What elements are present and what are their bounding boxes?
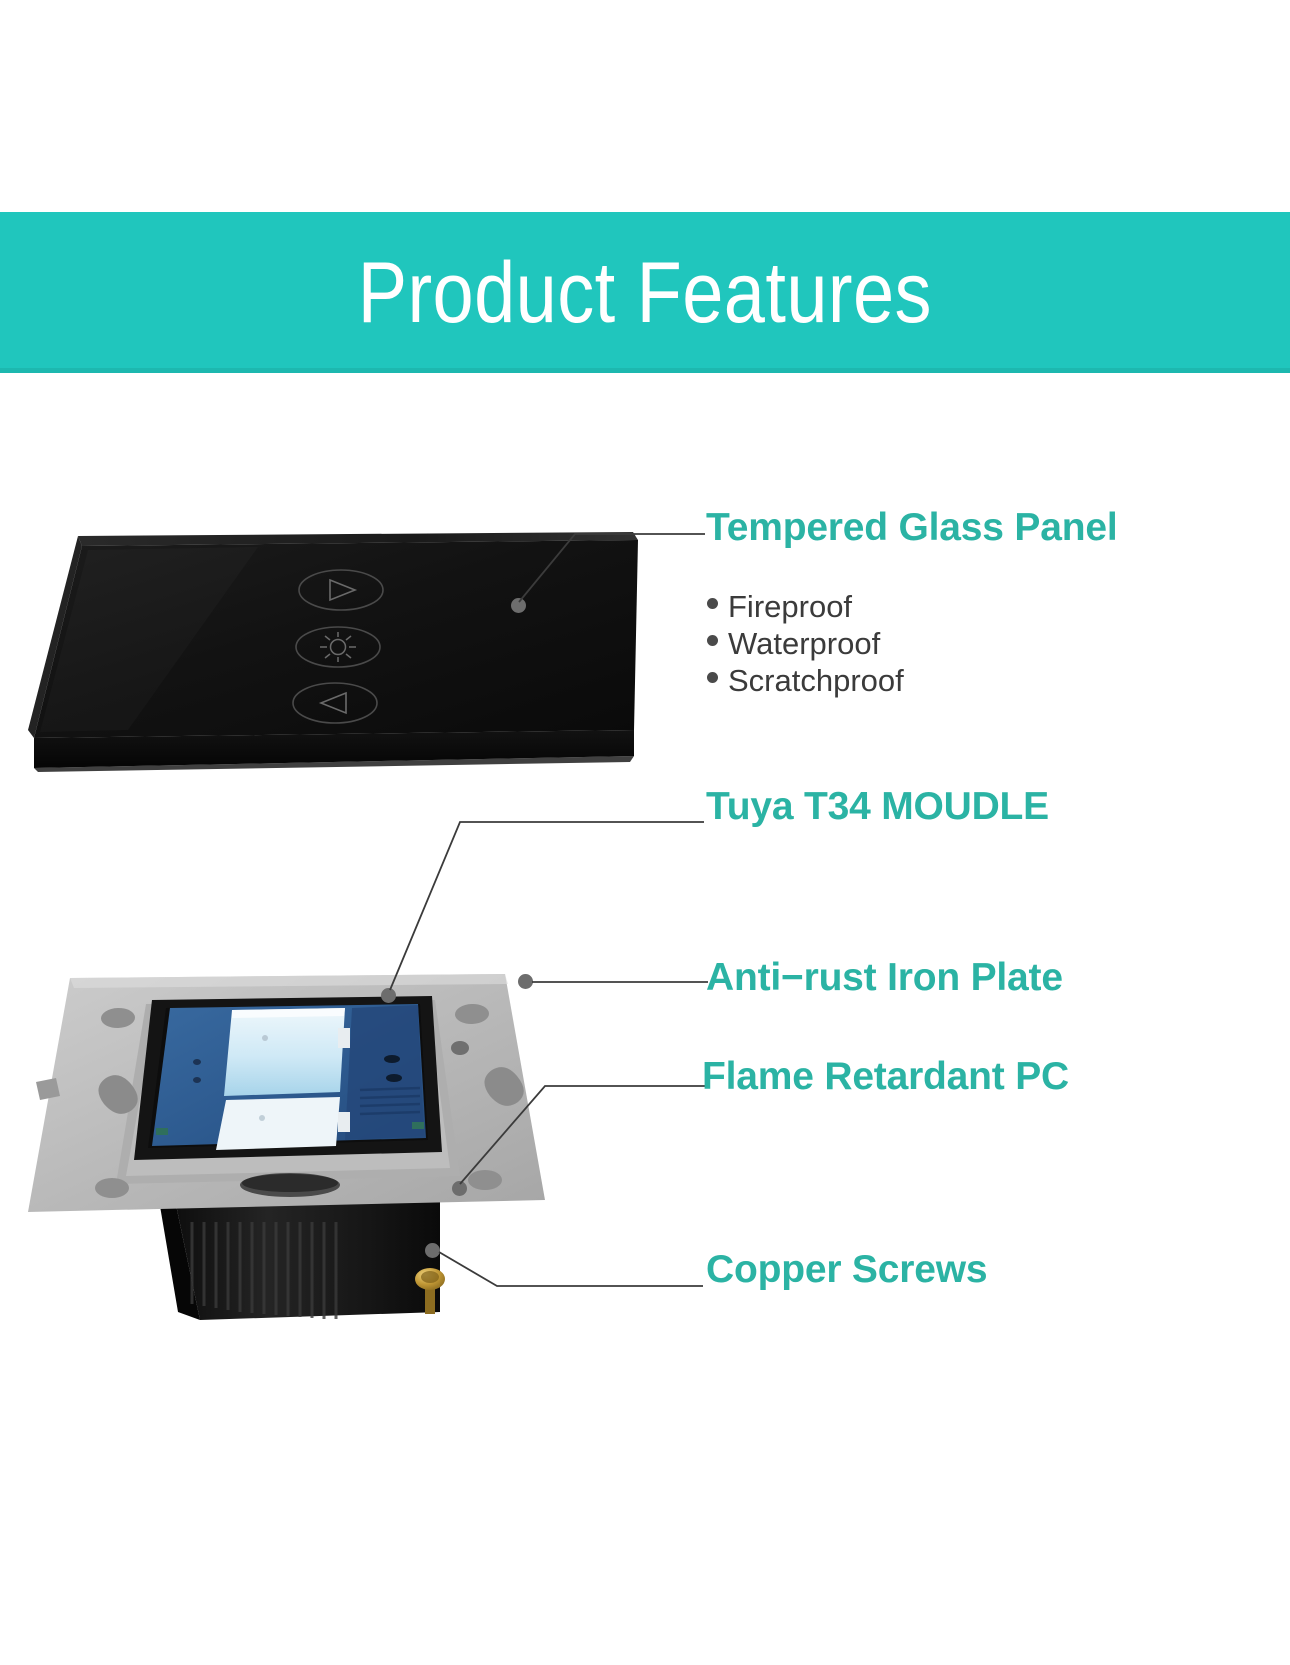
callout-title-tuya-t34-moudle: Tuya T34 MOUDLE — [706, 787, 1049, 828]
pcb-board — [152, 1004, 426, 1150]
list-item: Waterproof — [707, 625, 904, 662]
bullet-label: Fireproof — [728, 588, 852, 625]
callout-title-copper-screws: Copper Screws — [706, 1250, 987, 1291]
flame-retardant-pc-housing — [160, 1200, 440, 1320]
black-glass-touch-panel-image — [18, 480, 658, 770]
bullet-dot-icon — [707, 635, 718, 646]
relay-pad — [216, 1097, 340, 1150]
callout-leader-copper-screws — [437, 1246, 707, 1294]
bullet-label: Scratchproof — [728, 662, 904, 699]
bullet-label: Waterproof — [728, 625, 880, 662]
bullet-dot-icon — [707, 598, 718, 609]
product-features-page: Product Features — [0, 0, 1290, 1665]
callout-leader-tempered-glass — [515, 528, 715, 608]
page-banner: Product Features — [0, 212, 1290, 373]
callout-leader-iron-plate — [532, 976, 712, 990]
bullet-dot-icon — [707, 672, 718, 683]
callout-leader-tuya-module — [386, 806, 716, 996]
callout-leader-flame-retardant-pc — [455, 1078, 715, 1190]
tuya-t34-module — [224, 1008, 345, 1096]
list-item: Fireproof — [707, 588, 904, 625]
banner-shadow-divider — [0, 368, 1290, 373]
callout-marker-iron-plate — [518, 974, 533, 989]
tempered-glass-benefit-list: Fireproof Waterproof Scratchproof — [707, 588, 904, 699]
callout-title-anti-rust-iron-plate: Anti−rust Iron Plate — [706, 958, 1063, 999]
callout-title-flame-retardant-pc: Flame Retardant PC — [702, 1057, 1069, 1098]
page-title: Product Features — [358, 250, 932, 336]
callout-title-tempered-glass-panel: Tempered Glass Panel — [706, 508, 1117, 549]
list-item: Scratchproof — [707, 662, 904, 699]
